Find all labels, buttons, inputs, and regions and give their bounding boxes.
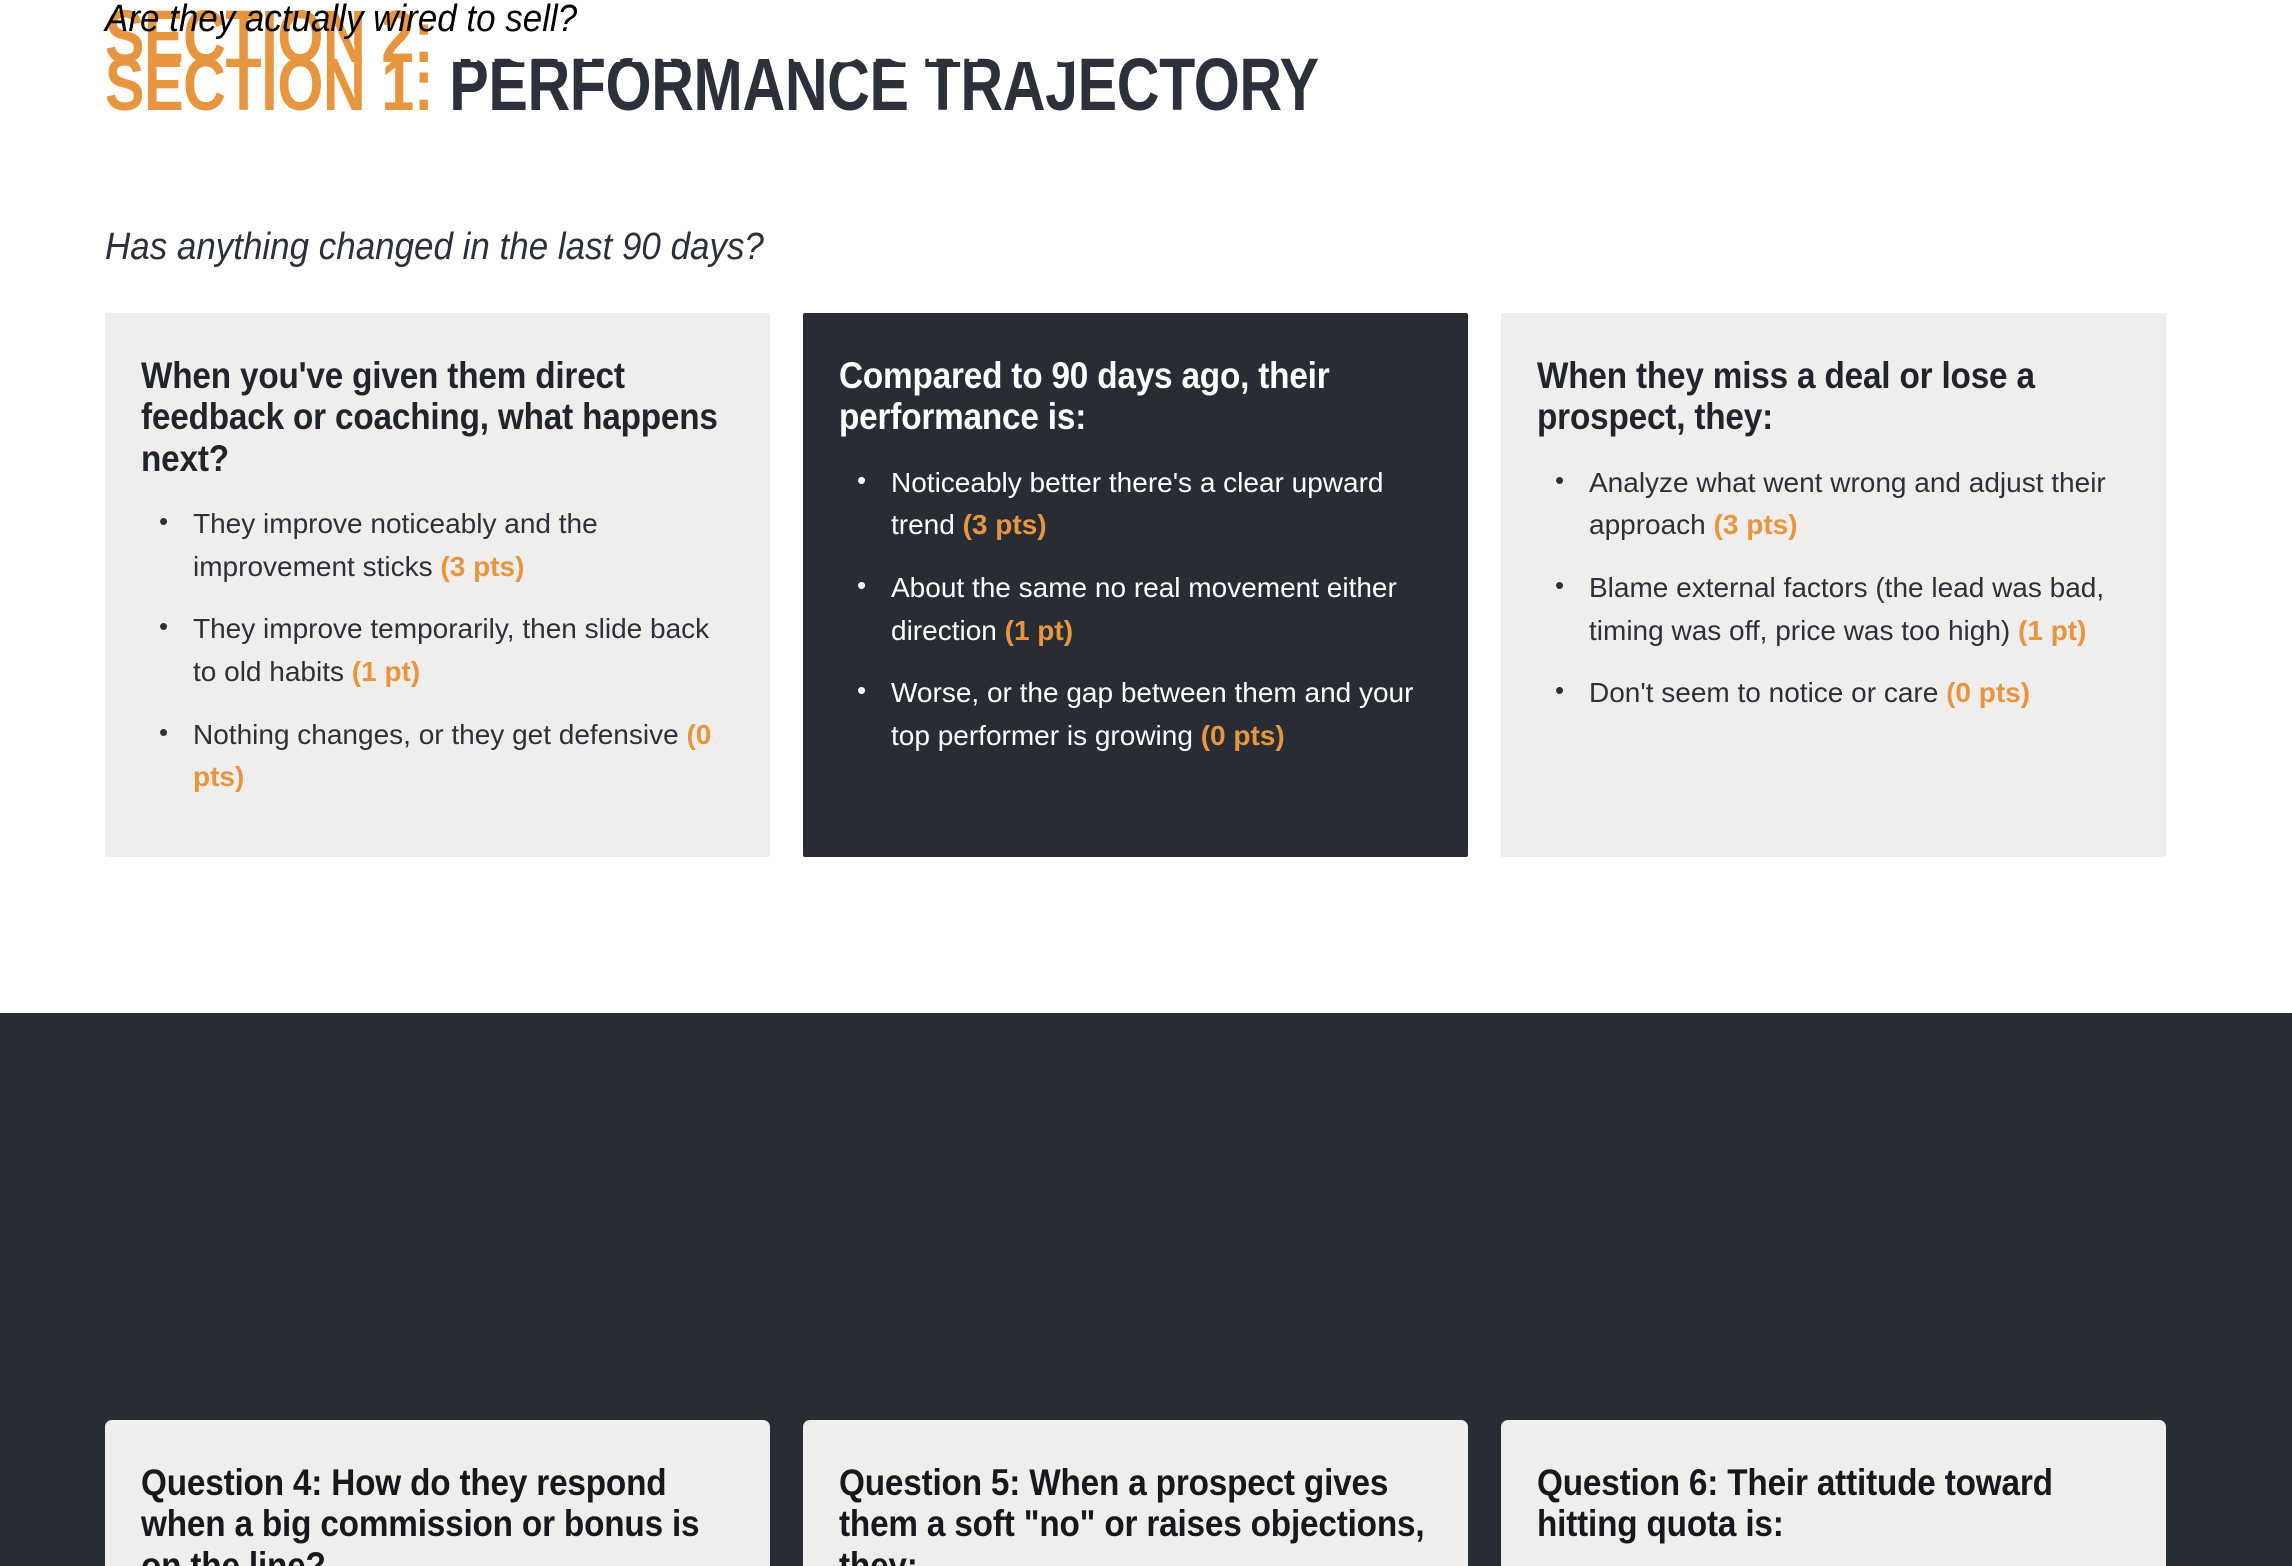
option-item[interactable]: Don't seem to notice or care (0 pts) — [1537, 672, 2130, 715]
option-text: About the same no real movement either d… — [891, 572, 1397, 646]
option-text: Worse, or the gap between them and your … — [891, 677, 1413, 751]
option-item[interactable]: Worse, or the gap between them and your … — [839, 672, 1432, 757]
option-points: (3 pts) — [963, 509, 1047, 540]
question-card-5-title: Question 5: When a prospect gives them a… — [839, 1462, 1431, 1566]
option-points: (1 pt) — [352, 656, 420, 687]
question-card-2-options: Noticeably better there's a clear upward… — [839, 462, 1432, 757]
option-text: Nothing changes, or they get defensive — [193, 719, 679, 750]
option-item[interactable]: Analyze what went wrong and adjust their… — [1537, 462, 2130, 547]
section-1-subtitle: Has anything changed in the last 90 days… — [105, 228, 764, 266]
option-text: Analyze what went wrong and adjust their… — [1589, 467, 2106, 541]
question-card-1-title: When you've given them direct feedback o… — [141, 355, 733, 479]
section-2-card-row: Question 4: How do they respond when a b… — [105, 1420, 1967, 1566]
question-card-1-options: They improve noticeably and the improvem… — [141, 503, 734, 798]
option-text: Don't seem to notice or care — [1589, 677, 1938, 708]
question-card-2-title: Compared to 90 days ago, their performan… — [839, 355, 1431, 438]
option-item[interactable]: Blame external factors (the lead was bad… — [1537, 567, 2130, 652]
section-2-subtitle: Are they actually wired to sell? — [105, 0, 577, 38]
question-card-4: Question 4: How do they respond when a b… — [105, 1420, 770, 1566]
option-item[interactable]: They improve temporarily, then slide bac… — [141, 608, 734, 693]
question-card-6: Question 6: Their attitude toward hittin… — [1501, 1420, 2166, 1566]
question-card-3: When they miss a deal or lose a prospect… — [1501, 313, 2166, 857]
question-card-6-title: Question 6: Their attitude toward hittin… — [1537, 1462, 2129, 1545]
option-text: They improve temporarily, then slide bac… — [193, 613, 709, 687]
option-item[interactable]: Noticeably better there's a clear upward… — [839, 462, 1432, 547]
option-points: (3 pts) — [440, 551, 524, 582]
option-item[interactable]: About the same no real movement either d… — [839, 567, 1432, 652]
option-item[interactable]: They improve noticeably and the improvem… — [141, 503, 734, 588]
option-text: They improve noticeably and the improvem… — [193, 508, 598, 582]
option-points: (1 pt) — [2018, 615, 2086, 646]
question-card-4-title: Question 4: How do they respond when a b… — [141, 1462, 733, 1566]
section-1-card-row: When you've given them direct feedback o… — [105, 313, 1967, 857]
question-card-3-options: Analyze what went wrong and adjust their… — [1537, 462, 2130, 715]
question-card-5: Question 5: When a prospect gives them a… — [803, 1420, 1468, 1566]
option-points: (3 pts) — [1714, 509, 1798, 540]
section-performance-trajectory: SECTION 1: PERFORMANCE TRAJECTORY Has an… — [0, 0, 2292, 1013]
option-points: (1 pt) — [1005, 615, 1073, 646]
option-item[interactable]: Nothing changes, or they get defensive (… — [141, 714, 734, 799]
question-card-1: When you've given them direct feedback o… — [105, 313, 770, 857]
option-points: (0 pts) — [1201, 720, 1285, 751]
question-card-3-title: When they miss a deal or lose a prospect… — [1537, 355, 2129, 438]
option-points: (0 pts) — [1946, 677, 2030, 708]
question-card-2: Compared to 90 days ago, their performan… — [803, 313, 1468, 857]
worksheet-page: SECTION 1: PERFORMANCE TRAJECTORY Has an… — [0, 0, 2292, 1566]
